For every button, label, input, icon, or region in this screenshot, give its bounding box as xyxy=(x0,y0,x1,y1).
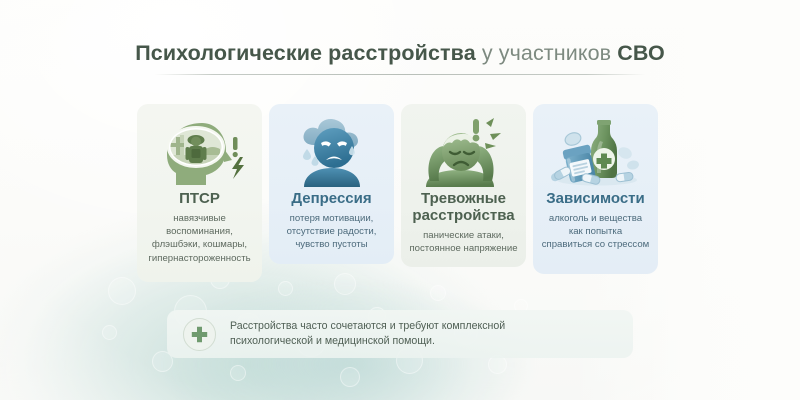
desc-line: чувство пустоты xyxy=(277,238,386,251)
disorder-card-title: Тревожные расстройства xyxy=(406,190,521,224)
sad-face-rain-cloud-icon xyxy=(274,114,389,188)
medical-cross-icon xyxy=(183,318,216,351)
desc-line: постоянное напряжение xyxy=(409,242,518,255)
disorder-card-trevozhnye-rasstroystva[interactable]: Тревожные расстройства панические атаки,… xyxy=(401,104,526,267)
page-title: Психологические расстройства у участнико… xyxy=(0,40,800,66)
summary-banner-text: Расстройства часто сочетаются и требуют … xyxy=(230,319,505,350)
disorder-card-title: ПТСР xyxy=(142,190,257,207)
page-title-subtext: у участников xyxy=(476,41,618,65)
desc-line: панические атаки, xyxy=(409,229,518,242)
page-title-emphasis-2: СВО xyxy=(617,41,665,65)
desc-line: как попытка xyxy=(541,225,650,238)
disorder-card-zavisimosti[interactable]: Зависимости алкоголь и вещества как попы… xyxy=(533,104,658,274)
disorder-card-description: навязчивые воспоминания, флэшбэки, кошма… xyxy=(142,212,257,265)
desc-line: алкоголь и вещества xyxy=(541,212,650,225)
header: Психологические расстройства у участнико… xyxy=(0,40,800,75)
disorder-card-title-line: Тревожные xyxy=(406,190,521,207)
infographic-canvas: Психологические расстройства у участнико… xyxy=(0,0,800,400)
head-with-soldier-memory-icon xyxy=(142,114,257,188)
summary-line: психологической и медицинской помощи. xyxy=(230,334,505,350)
desc-line: навязчивые xyxy=(145,212,254,225)
summary-banner: Расстройства часто сочетаются и требуют … xyxy=(167,310,633,358)
disorder-card-description: алкоголь и вещества как попытка справить… xyxy=(538,212,653,252)
bottle-and-pills-icon xyxy=(538,114,653,188)
disorder-card-depressiya[interactable]: Депрессия потеря мотивации, отсутствие р… xyxy=(269,104,394,264)
title-divider xyxy=(154,74,646,75)
disorder-card-title: Зависимости xyxy=(538,190,653,207)
desc-line: воспоминания, xyxy=(145,225,254,238)
disorder-card-title-line: расстройства xyxy=(406,207,521,224)
disorder-card-title: Депрессия xyxy=(274,190,389,207)
disorder-card-description: панические атаки, постоянное напряжение xyxy=(406,229,521,255)
summary-line: Расстройства часто сочетаются и требуют … xyxy=(230,319,505,335)
disorder-card-list: ПТСР навязчивые воспоминания, флэшбэки, … xyxy=(137,104,663,282)
desc-line: гипернастороженность xyxy=(145,252,254,265)
desc-line: справиться со стрессом xyxy=(541,238,650,251)
desc-line: флэшбэки, кошмары, xyxy=(145,238,254,251)
page-title-emphasis-1: Психологические расстройства xyxy=(135,41,476,65)
stressed-person-holding-head-icon xyxy=(406,114,521,188)
desc-line: потеря мотивации, xyxy=(277,212,386,225)
disorder-card-description: потеря мотивации, отсутствие радости, чу… xyxy=(274,212,389,252)
disorder-card-ptsr[interactable]: ПТСР навязчивые воспоминания, флэшбэки, … xyxy=(137,104,262,282)
desc-line: отсутствие радости, xyxy=(277,225,386,238)
